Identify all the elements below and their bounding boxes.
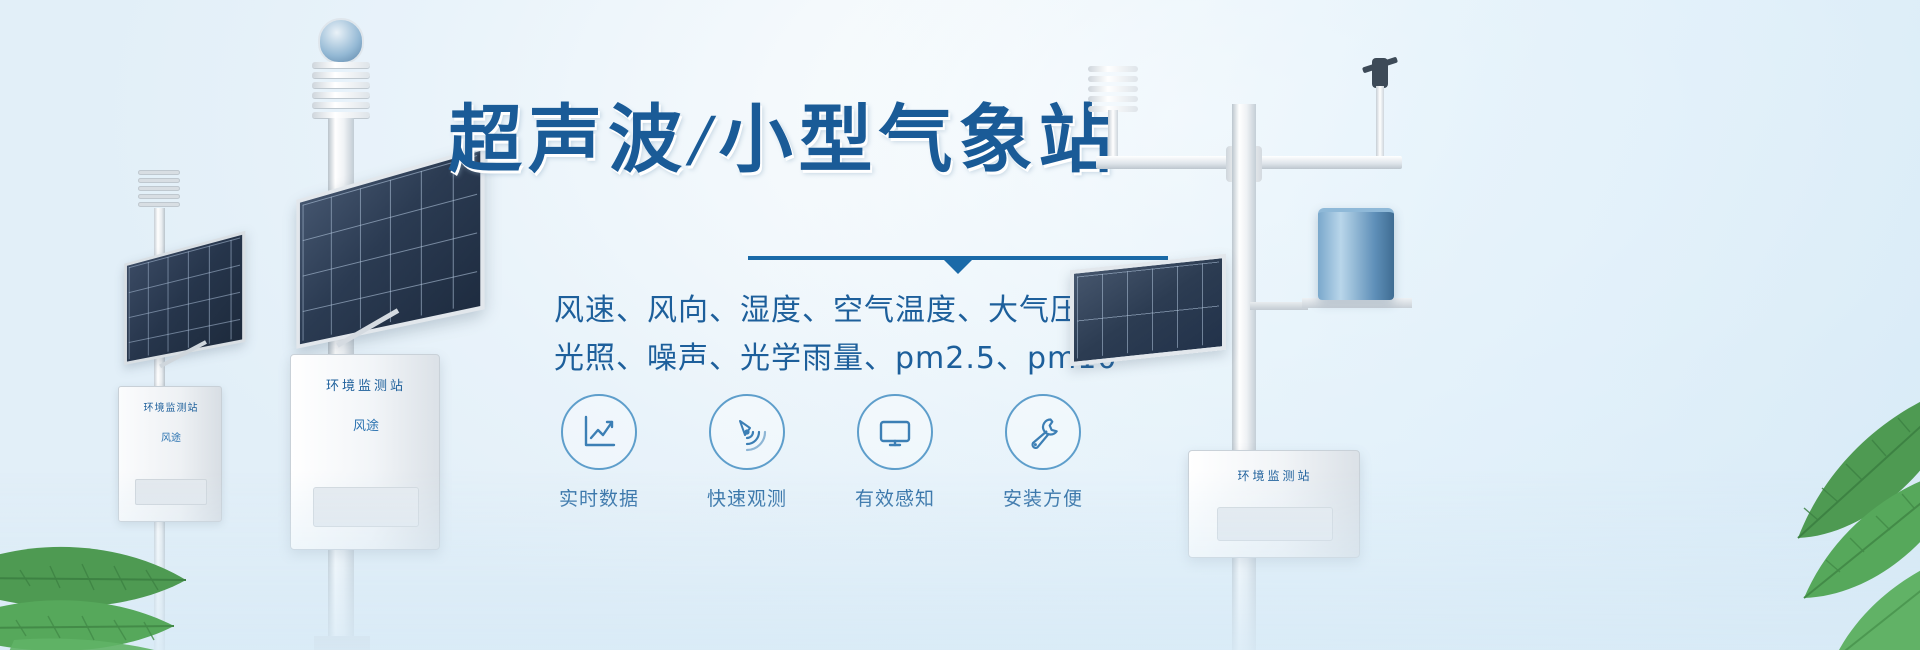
headline-part-1: 超声波 — [448, 100, 688, 182]
cabinet-vent — [313, 487, 419, 527]
gauge-support-arm — [1250, 302, 1308, 310]
mast-base — [314, 636, 370, 650]
headline-part-2: 小型气象站 — [719, 100, 1119, 182]
brand-logo-label: 风途 — [299, 415, 433, 434]
feature-list: 实时数据 快速观测 — [556, 394, 1086, 511]
radiation-shield-sensor-icon — [138, 170, 180, 210]
feature-item-fast-observation[interactable]: 快速观测 — [704, 394, 790, 511]
decorative-leaf-left — [0, 440, 310, 650]
decorative-leaf-right — [1580, 360, 1920, 650]
radiation-shield-sensor-icon — [312, 62, 370, 120]
solar-panel — [1070, 254, 1226, 366]
control-cabinet: 环境监测站 — [1188, 450, 1360, 558]
wind-vane-icon — [1360, 58, 1400, 108]
station-mast — [1232, 104, 1256, 650]
feature-icon-circle — [857, 394, 933, 470]
feature-label: 有效感知 — [855, 484, 935, 511]
wrench-icon — [1022, 411, 1064, 453]
line-chart-icon — [578, 411, 620, 453]
rain-gauge-sensor — [1318, 208, 1394, 300]
cabinet-label: 环境监测站 — [1197, 467, 1353, 484]
feature-label: 实时数据 — [559, 484, 639, 511]
cabinet-label: 环境监测站 — [299, 375, 433, 394]
cabinet-vent — [1217, 507, 1333, 541]
ultrasonic-sensor-dome-icon — [318, 18, 364, 64]
feature-label: 快速观测 — [707, 484, 787, 511]
radar-signal-icon — [726, 411, 768, 453]
solar-panel — [124, 231, 245, 365]
feature-icon-circle — [561, 394, 637, 470]
sensor-stem — [1108, 110, 1118, 158]
feature-item-effective-sensing[interactable]: 有效感知 — [852, 394, 938, 511]
headline-slash: / — [688, 100, 719, 182]
feature-item-realtime-data[interactable]: 实时数据 — [556, 394, 642, 511]
divider-caret-icon — [944, 260, 972, 274]
cabinet-label: 环境监测站 — [125, 399, 217, 414]
product-banner: 环境监测站 风途 环境监测站 风途 超声波/小型气象站 — [0, 0, 1920, 650]
weather-station-mast: 环境监测站 — [1060, 48, 1440, 650]
ultrasonic-wind-sensor-icon — [1088, 66, 1138, 114]
monitor-screen-icon — [874, 411, 916, 453]
control-cabinet: 环境监测站 风途 — [290, 354, 440, 550]
feature-icon-circle — [709, 394, 785, 470]
